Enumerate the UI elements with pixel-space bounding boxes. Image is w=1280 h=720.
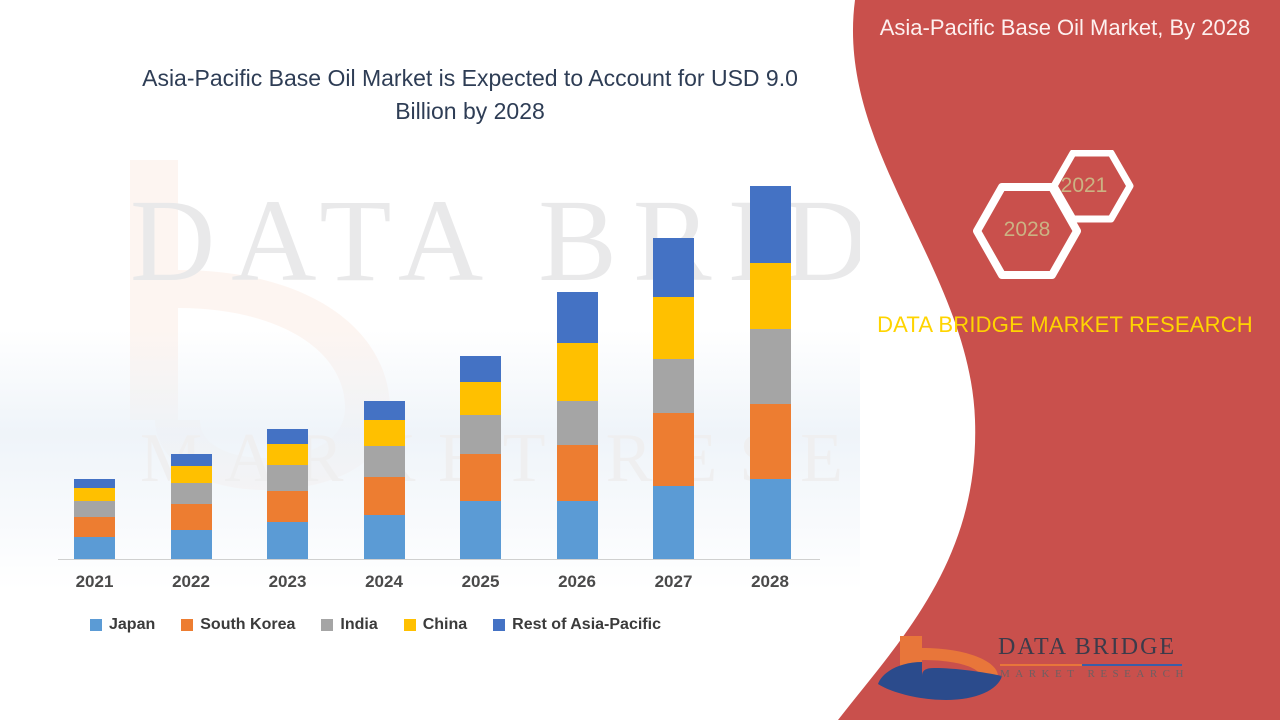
bar-segment-rest-of-asia-pacific[interactable] (267, 429, 308, 444)
bar-segment-japan[interactable] (557, 501, 598, 559)
bar-2022[interactable] (171, 454, 212, 559)
bar-2026[interactable] (557, 292, 598, 559)
bar-segment-japan[interactable] (74, 537, 115, 559)
bar-segment-japan[interactable] (460, 501, 501, 559)
x-axis-tick-2028: 2028 (735, 572, 805, 592)
bar-segment-south-korea[interactable] (171, 504, 212, 530)
bar-segment-south-korea[interactable] (653, 413, 694, 486)
bar-segment-china[interactable] (267, 444, 308, 465)
legend-item-south-korea[interactable]: South Korea (181, 616, 295, 634)
legend-swatch-icon (90, 619, 102, 631)
bar-segment-india[interactable] (74, 501, 115, 517)
logo-divider (1000, 664, 1182, 666)
bar-segment-india[interactable] (653, 359, 694, 413)
bar-2024[interactable] (364, 401, 405, 559)
bar-segment-japan[interactable] (171, 530, 212, 559)
bar-2025[interactable] (460, 356, 501, 559)
legend-item-india[interactable]: India (321, 616, 377, 634)
legend-label: Japan (109, 616, 155, 634)
bar-segment-rest-of-asia-pacific[interactable] (74, 479, 115, 488)
chart-legend: JapanSouth KoreaIndiaChinaRest of Asia-P… (90, 616, 810, 634)
logo-mark-icon (864, 628, 1014, 706)
bar-segment-india[interactable] (364, 446, 405, 477)
infographic-canvas: DATA BRIDGE MARKET RESEARCH Asia-Pacific… (0, 0, 1280, 720)
legend-swatch-icon (181, 619, 193, 631)
axis-baseline (58, 559, 820, 560)
legend-swatch-icon (493, 619, 505, 631)
legend-swatch-icon (321, 619, 333, 631)
bar-2023[interactable] (267, 429, 308, 559)
hexagon-group: 2021 2028 (850, 150, 1280, 300)
hexagon-2021-shape (1054, 153, 1130, 219)
bar-segment-south-korea[interactable] (750, 404, 791, 479)
bar-segment-china[interactable] (557, 343, 598, 401)
bar-segment-india[interactable] (460, 415, 501, 454)
bar-2021[interactable] (74, 479, 115, 559)
bar-segment-south-korea[interactable] (74, 517, 115, 537)
bar-segment-rest-of-asia-pacific[interactable] (750, 186, 791, 263)
x-axis-labels: 20212022202320242025202620272028 (58, 572, 820, 598)
panel-brand-text: DATA BRIDGE MARKET RESEARCH (850, 308, 1280, 341)
bar-segment-china[interactable] (653, 297, 694, 359)
bar-segment-rest-of-asia-pacific[interactable] (460, 356, 501, 382)
bar-segment-rest-of-asia-pacific[interactable] (171, 454, 212, 466)
x-axis-tick-2025: 2025 (446, 572, 516, 592)
chart-title: Asia-Pacific Base Oil Market is Expected… (120, 62, 820, 127)
legend-label: South Korea (200, 616, 295, 634)
bar-2027[interactable] (653, 238, 694, 559)
x-axis-tick-2024: 2024 (349, 572, 419, 592)
bar-group (58, 159, 820, 559)
legend-label: China (423, 616, 467, 634)
x-axis-tick-2022: 2022 (156, 572, 226, 592)
bar-segment-china[interactable] (74, 488, 115, 501)
hexagon-2028-label: 2028 (997, 218, 1057, 242)
hexagon-2021-label: 2021 (1054, 174, 1114, 198)
bar-segment-japan[interactable] (267, 522, 308, 559)
bar-segment-rest-of-asia-pacific[interactable] (364, 401, 405, 420)
legend-item-china[interactable]: China (404, 616, 467, 634)
bar-segment-india[interactable] (750, 329, 791, 404)
bar-segment-south-korea[interactable] (460, 454, 501, 501)
hexagon-2028-shape (977, 187, 1077, 275)
legend-item-rest-of-asia-pacific[interactable]: Rest of Asia-Pacific (493, 616, 661, 634)
bar-segment-japan[interactable] (750, 479, 791, 559)
bar-segment-rest-of-asia-pacific[interactable] (557, 292, 598, 343)
legend-swatch-icon (404, 619, 416, 631)
bar-segment-india[interactable] (557, 401, 598, 445)
panel-shape (838, 0, 1280, 720)
bar-segment-china[interactable] (460, 382, 501, 415)
panel-title: Asia-Pacific Base Oil Market, By 2028 (850, 12, 1280, 44)
logo-text-secondary: MARKET RESEARCH (1000, 668, 1189, 680)
bar-segment-south-korea[interactable] (557, 445, 598, 501)
bar-segment-rest-of-asia-pacific[interactable] (653, 238, 694, 297)
chart-plot-area (58, 150, 820, 560)
legend-item-japan[interactable]: Japan (90, 616, 155, 634)
bar-2028[interactable] (750, 186, 791, 559)
bar-segment-india[interactable] (267, 465, 308, 491)
x-axis-tick-2026: 2026 (542, 572, 612, 592)
bar-segment-south-korea[interactable] (267, 491, 308, 522)
legend-label: Rest of Asia-Pacific (512, 616, 661, 634)
x-axis-tick-2023: 2023 (253, 572, 323, 592)
bar-segment-japan[interactable] (653, 486, 694, 559)
legend-label: India (340, 616, 377, 634)
bar-segment-china[interactable] (750, 263, 791, 329)
x-axis-tick-2027: 2027 (639, 572, 709, 592)
bar-segment-south-korea[interactable] (364, 477, 405, 515)
company-logo: DATA BRIDGE MARKET RESEARCH (850, 624, 1280, 702)
logo-text-primary: DATA BRIDGE (998, 634, 1176, 661)
bar-segment-india[interactable] (171, 483, 212, 504)
bar-segment-japan[interactable] (364, 515, 405, 559)
bar-segment-china[interactable] (171, 466, 212, 483)
x-axis-tick-2021: 2021 (60, 572, 130, 592)
bar-segment-china[interactable] (364, 420, 405, 446)
